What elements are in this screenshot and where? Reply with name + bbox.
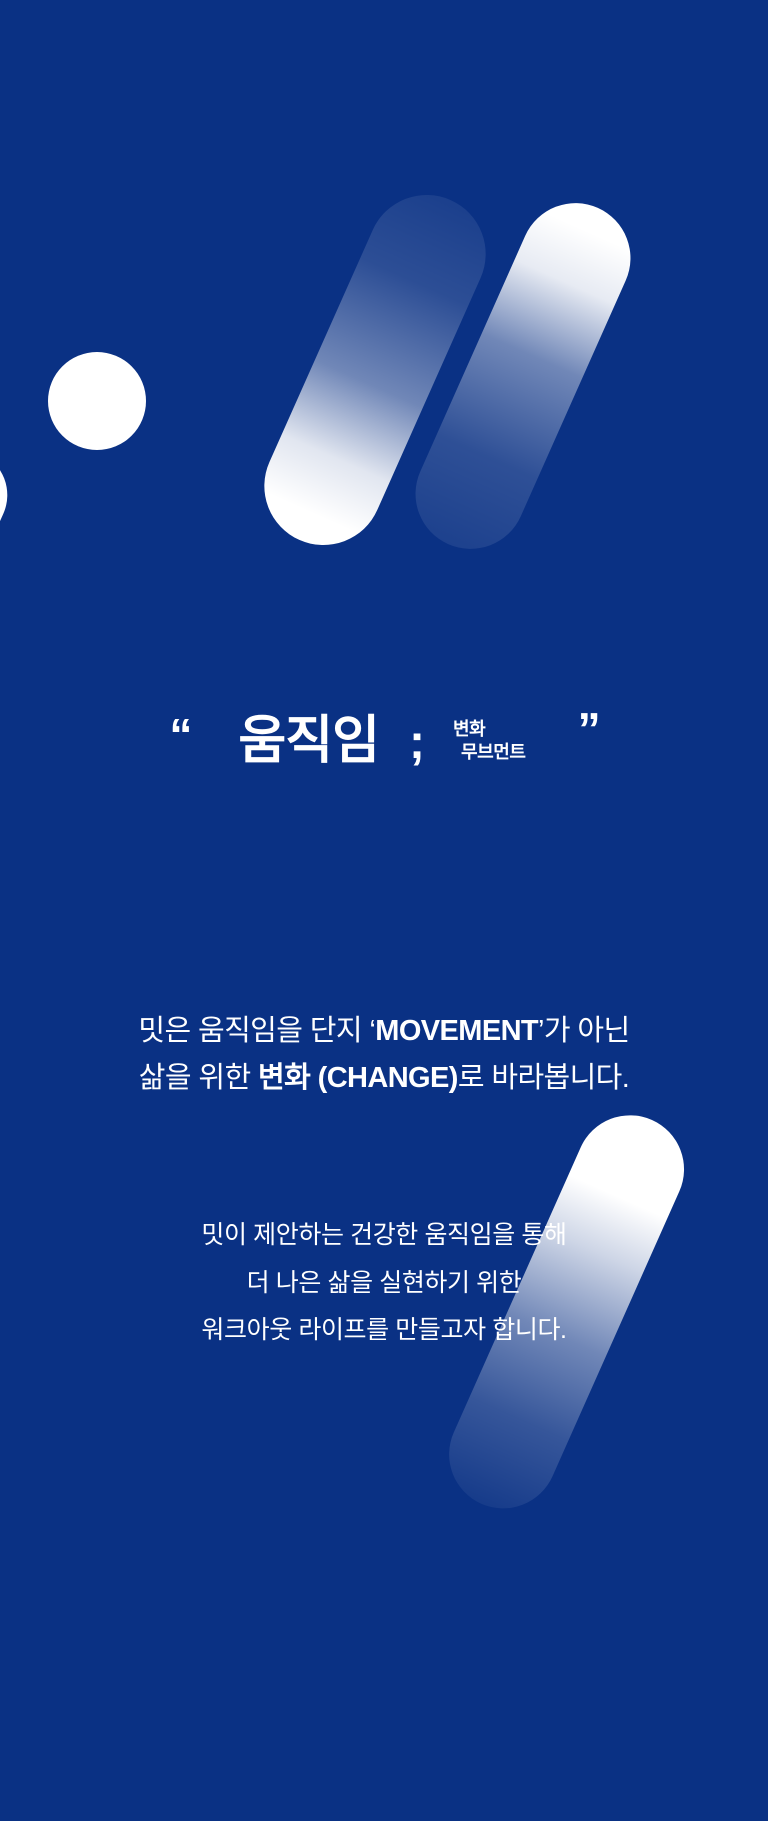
headline-subtext-line-1: 변화 [453, 718, 485, 741]
headline-separator: ; [409, 719, 425, 767]
brand-paragraph-line-3: 워크아웃 라이프를 만들고자 합니다. [0, 1307, 768, 1355]
page-content: “ 움직임 ; 변화 무브먼트 ” 밋은 움직임을 단지 ‘MOVEMENT’가… [0, 0, 768, 1821]
headline-keyword: 움직임 [238, 715, 379, 767]
brand-statement: 밋은 움직임을 단지 ‘MOVEMENT’가 아닌 삶을 위한 변화 (CHAN… [0, 1008, 768, 1102]
brand-statement-line-1: 밋은 움직임을 단지 ‘MOVEMENT’가 아닌 [0, 1008, 768, 1055]
statement-emphasis-change: 변화 (CHANGE) [258, 1062, 458, 1094]
brand-paragraph-line-1: 밋이 제안하는 건강한 움직임을 통해 [0, 1212, 768, 1260]
brand-paragraph: 밋이 제안하는 건강한 움직임을 통해 더 나은 삶을 실현하기 위한 워크아웃… [0, 1212, 768, 1355]
headline-subtext-line-2: 무브먼트 [461, 741, 526, 764]
headline-subtext: 변화 무브먼트 [453, 718, 526, 764]
quote-close-icon: ” [578, 706, 599, 752]
quote-open-icon: “ [169, 712, 190, 758]
statement-text: 삶을 위한 [139, 1062, 258, 1094]
brand-philosophy-page: “ 움직임 ; 변화 무브먼트 ” 밋은 움직임을 단지 ‘MOVEMENT’가… [0, 0, 768, 1821]
statement-text: ’가 아닌 [538, 1015, 630, 1047]
statement-emphasis-movement: MOVEMENT [375, 1015, 538, 1047]
headline: “ 움직임 ; 변화 무브먼트 ” [0, 715, 768, 767]
brand-paragraph-line-2: 더 나은 삶을 실현하기 위한 [0, 1260, 768, 1308]
brand-statement-line-2: 삶을 위한 변화 (CHANGE)로 바라봅니다. [0, 1055, 768, 1102]
statement-text: 밋은 움직임을 단지 ‘ [138, 1015, 375, 1047]
statement-text: 로 바라봅니다. [458, 1062, 629, 1094]
